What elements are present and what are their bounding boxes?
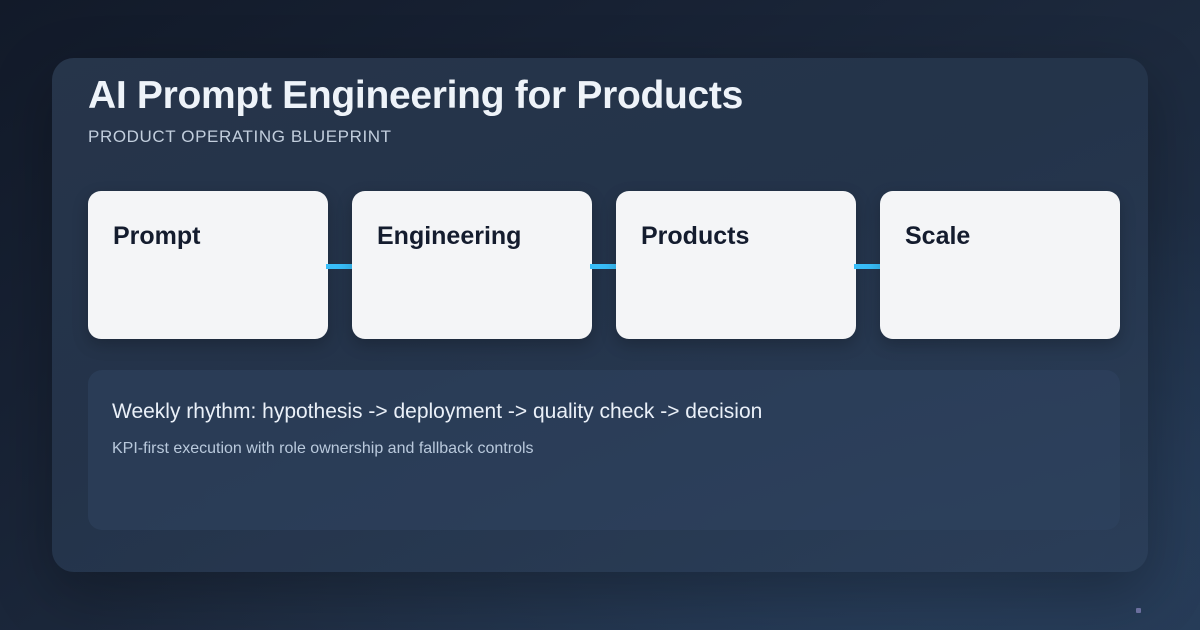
corner-marker-dot [1136,608,1141,613]
stage-connector-icon [854,264,882,269]
stage-connector-icon [326,264,354,269]
page-title: AI Prompt Engineering for Products [88,74,1112,118]
stage-card-engineering[interactable]: Engineering [352,191,592,339]
stage-card-label: Prompt [113,222,201,251]
stage-card-label: Scale [905,222,970,251]
main-panel: AI Prompt Engineering for Products PRODU… [52,58,1148,572]
stage-card-label: Products [641,222,749,251]
note-primary-text: Weekly rhythm: hypothesis -> deployment … [112,400,762,424]
header: AI Prompt Engineering for Products PRODU… [88,74,1112,147]
stage-card-prompt[interactable]: Prompt [88,191,328,339]
stage-connector-icon [590,264,618,269]
stage-card-products[interactable]: Products [616,191,856,339]
stage-card-label: Engineering [377,222,521,251]
note-secondary-text: KPI-first execution with role ownership … [112,440,534,458]
stage-flow: Prompt Engineering Products Scale [88,191,1120,339]
note-panel: Weekly rhythm: hypothesis -> deployment … [88,370,1120,530]
page-subtitle: PRODUCT OPERATING BLUEPRINT [88,127,1112,147]
stage-card-scale[interactable]: Scale [880,191,1120,339]
